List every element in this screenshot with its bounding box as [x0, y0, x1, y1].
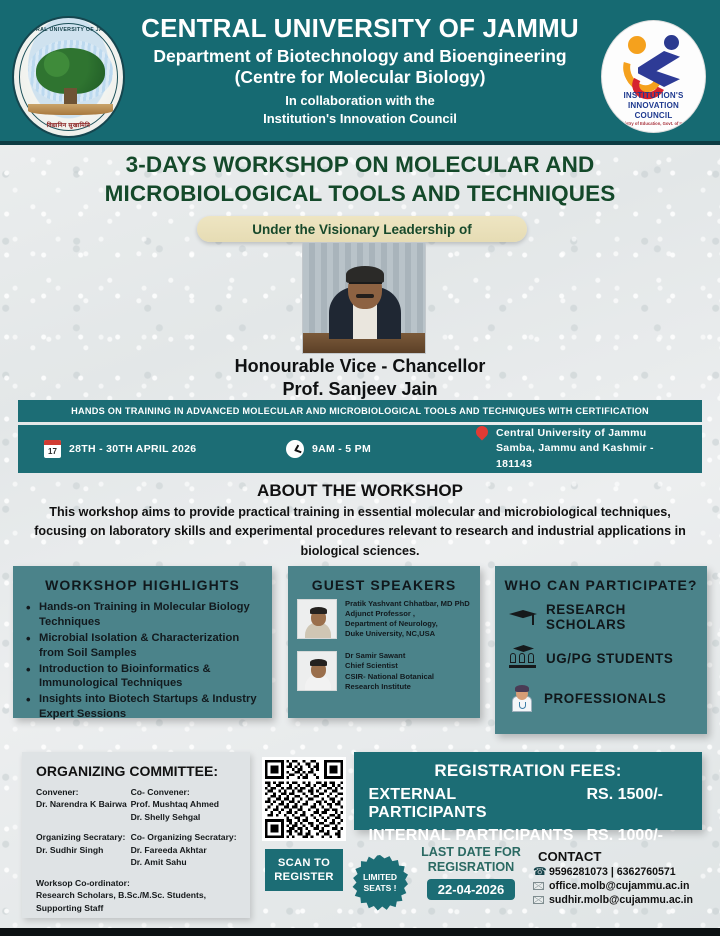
speaker-org-line2: Duke University, NC,USA: [345, 629, 470, 639]
poster-header: CENTRAL UNIVERSITY OF JAMMU विद्यानिन सु…: [0, 0, 720, 141]
header-text-block: CENTRAL UNIVERSITY OF JAMMU Department o…: [125, 14, 595, 128]
about-heading: ABOUT THE WORKSHOP: [0, 481, 720, 501]
list-item: PROFESSIONALS: [509, 684, 707, 712]
workshop-highlights-panel: WORKSHOP HIGHLIGHTS Hands-on Training in…: [13, 566, 272, 718]
mail-icon: [533, 882, 544, 890]
who-can-participate-title: WHO CAN PARTICIPATE?: [495, 566, 707, 593]
location-pin-icon: [476, 426, 488, 444]
iic-logo-icon: INSTITUTION'S INNOVATION COUNCIL Ministr…: [601, 20, 706, 133]
participant-label: RESEARCH SCHOLARS: [546, 602, 707, 632]
scan-label-line2: REGISTER: [274, 870, 334, 884]
poster-canvas: CENTRAL UNIVERSITY OF JAMMU विद्यानिन सु…: [0, 0, 720, 936]
header-divider: [0, 141, 720, 145]
fee-label: EXTERNAL PARTICIPANTS: [360, 786, 575, 822]
member-name: Prof. Mushtaq Ahmed: [131, 798, 250, 810]
speaker-photo: [297, 651, 337, 691]
event-date-item: 17 28TH - 30TH APRIL 2026: [44, 440, 264, 458]
contact-phone-row: ☎ 9596281073 | 6362760571: [533, 866, 713, 878]
badge-line2: SEATS !: [364, 883, 397, 894]
guest-speakers-title: GUEST SPEAKERS: [288, 566, 480, 593]
organizing-committee-panel: ORGANIZING COMMITTEE: Convener: Dr. Nare…: [22, 752, 250, 918]
speaker-org-line1: Department of Neurology,: [345, 619, 470, 629]
participant-label: UG/PG STUDENTS: [546, 651, 673, 666]
guest-speakers-panel: GUEST SPEAKERS Pratik Yashvant Chhatbar,…: [288, 566, 480, 718]
list-item: Insights into Biotech Startups & Industr…: [23, 692, 264, 722]
organizing-committee-title: ORGANIZING COMMITTEE:: [36, 763, 250, 779]
centre-name: (Centre for Molecular Biology): [125, 67, 595, 88]
fee-amount: RS. 1000/-: [587, 827, 697, 845]
committee-col-left: Convener: Dr. Narendra K Bairwa: [36, 786, 131, 823]
hands-on-training-bar: HANDS ON TRAINING IN ADVANCED MOLECULAR …: [18, 400, 702, 422]
role-heading: Convener:: [36, 786, 131, 798]
fee-amount: RS. 1500/-: [587, 786, 697, 804]
contact-email-1: office.molb@cujammu.ac.in: [549, 880, 689, 892]
list-item: Introduction to Bioinformatics & Immunol…: [23, 662, 264, 692]
iic-logo-line2: INNOVATION: [602, 101, 705, 110]
about-body-text: This workshop aims to provide practical …: [30, 503, 690, 561]
committee-col-right: Co- Organizing Secratary: Dr. Fareeda Ak…: [131, 831, 250, 868]
member-name: Dr. Narendra K Bairwa: [36, 798, 131, 810]
contact-email-2: sudhir.molb@cujammu.ac.in: [549, 894, 693, 906]
speaker-org-line1: CSIR- National Botanical: [345, 672, 434, 682]
role-heading: Co- Convener:: [131, 786, 250, 798]
role-heading: Co- Organizing Secratary:: [131, 831, 250, 843]
seal-top-text: CENTRAL UNIVERSITY OF JAMMU: [14, 27, 123, 33]
list-item: Hands-on Training in Molecular Biology T…: [23, 600, 264, 630]
list-item: RESEARCH SCHOLARS: [509, 602, 707, 632]
footer-bar: [0, 928, 720, 936]
iic-logo-line1: INSTITUTION'S: [602, 91, 705, 100]
mail-icon: [533, 896, 544, 904]
committee-col-left: Organizing Secratary: Dr. Sudhir Singh: [36, 831, 131, 868]
seal-bottom-text: विद्यानिन सुखामिनि: [14, 121, 123, 129]
registration-fees-panel: REGISTRATION FEES: EXTERNAL PARTICIPANTS…: [354, 752, 702, 830]
venue-line2: Samba, Jammu and Kashmir -: [496, 441, 654, 456]
contact-block: CONTACT ☎ 9596281073 | 6362760571 office…: [533, 849, 713, 906]
participant-label: PROFESSIONALS: [544, 691, 666, 706]
last-date-value: 22-04-2026: [427, 879, 516, 900]
contact-phone: 9596281073 | 6362760571: [549, 866, 676, 878]
speaker-info: Pratik Yashvant Chhatbar, MD PhD Adjunct…: [345, 599, 470, 639]
workshop-highlights-list: Hands-on Training in Molecular Biology T…: [23, 600, 264, 722]
iic-logo-line3: COUNCIL: [602, 111, 705, 120]
role-heading: Worksop Co-ordinator:: [36, 877, 250, 889]
list-item: Pratik Yashvant Chhatbar, MD PhD Adjunct…: [297, 599, 472, 639]
list-item: Dr Samir Sawant Chief Scientist CSIR- Na…: [297, 651, 472, 691]
member-name: Dr. Sudhir Singh: [36, 844, 131, 856]
member-name: Dr. Shelly Sehgal: [131, 811, 250, 823]
committee-col-right: Co- Convener: Prof. Mushtaq Ahmed Dr. Sh…: [131, 786, 250, 823]
clock-icon: [286, 440, 304, 458]
speaker-info: Dr Samir Sawant Chief Scientist CSIR- Na…: [345, 651, 434, 691]
event-time-item: 9AM - 5 PM: [286, 440, 466, 458]
table-row: EXTERNAL PARTICIPANTS RS. 1500/-: [354, 786, 702, 822]
committee-block: Organizing Secratary: Dr. Sudhir Singh C…: [36, 831, 250, 868]
who-can-participate-panel: WHO CAN PARTICIPATE? RESEARCH SCHOLARS U…: [495, 566, 707, 734]
venue-line1: Central University of Jammu: [496, 426, 654, 441]
vice-chancellor-photo: [302, 242, 426, 354]
iic-line: Institution's Innovation Council: [125, 110, 595, 128]
last-date-line2: REGISRATION: [398, 860, 544, 875]
committee-block: Convener: Dr. Narendra K Bairwa Co- Conv…: [36, 786, 250, 823]
workshop-highlights-title: WORKSHOP HIGHLIGHTS: [13, 566, 272, 593]
iic-logo-subtitle: Ministry of Education, Govt. of India: [602, 121, 705, 126]
graduation-cap-icon: [509, 607, 537, 627]
event-date-text: 28TH - 30TH APRIL 2026: [69, 443, 196, 455]
event-venue-item: Central University of Jammu Samba, Jammu…: [476, 426, 696, 472]
phone-icon: ☎: [533, 867, 544, 878]
list-item: UG/PG STUDENTS: [509, 645, 707, 671]
speaker-role: Adjunct Professor ,: [345, 609, 470, 619]
committee-coordinator-block: Worksop Co-ordinator: Research Scholars,…: [36, 877, 250, 914]
event-time-text: 9AM - 5 PM: [312, 443, 371, 455]
collaboration-line: In collaboration with the: [125, 92, 595, 110]
workshop-title-line2: MICROBIOLOGICAL TOOLS AND TECHNIQUES: [0, 179, 720, 208]
member-name: Dr. Amit Sahu: [131, 856, 250, 868]
fee-label: INTERNAL PARTICIPANTS: [360, 827, 575, 845]
contact-title: CONTACT: [538, 849, 713, 864]
scan-label-line1: SCAN TO: [278, 856, 330, 870]
organizing-committee-grid: Convener: Dr. Narendra K Bairwa Co- Conv…: [36, 786, 250, 914]
university-name: CENTRAL UNIVERSITY OF JAMMU: [125, 14, 595, 43]
vc-name: Prof. Sanjeev Jain: [0, 379, 720, 400]
speaker-name: Pratik Yashvant Chhatbar, MD PhD: [345, 599, 470, 609]
contact-email-row: sudhir.molb@cujammu.ac.in: [533, 894, 713, 906]
venue-line3: 181143: [496, 457, 654, 472]
member-name: Dr. Fareeda Akhtar: [131, 844, 250, 856]
students-icon: [509, 645, 537, 671]
speaker-name: Dr Samir Sawant: [345, 651, 434, 661]
university-seal-icon: CENTRAL UNIVERSITY OF JAMMU विद्यानिन सु…: [12, 16, 125, 138]
workshop-title: 3-DAYS WORKSHOP ON MOLECULAR AND MICROBI…: [0, 150, 720, 209]
registration-qr-code[interactable]: [262, 757, 346, 841]
professional-icon: [509, 684, 535, 712]
registration-fees-title: REGISTRATION FEES:: [354, 761, 702, 781]
leadership-ribbon: Under the Visionary Leadership of: [197, 216, 527, 242]
department-name: Department of Biotechnology and Bioengin…: [125, 46, 595, 67]
badge-line1: LIMITED: [363, 872, 397, 883]
speaker-photo: [297, 599, 337, 639]
last-date-line1: LAST DATE FOR: [398, 845, 544, 860]
last-date-block: LAST DATE FOR REGISRATION 22-04-2026: [398, 845, 544, 900]
event-info-bar: 17 28TH - 30TH APRIL 2026 9AM - 5 PM Cen…: [18, 425, 702, 473]
coordinator-line1: Research Scholars, B.Sc./M.Sc. Students,: [36, 889, 250, 901]
calendar-day-number: 17: [44, 445, 61, 458]
event-venue-text: Central University of Jammu Samba, Jammu…: [496, 426, 654, 472]
calendar-icon: 17: [44, 440, 61, 458]
vc-designation: Honourable Vice - Chancellor: [0, 356, 720, 377]
leadership-ribbon-label: Under the Visionary Leadership of: [252, 222, 472, 237]
scan-to-register-button[interactable]: SCAN TO REGISTER: [265, 849, 343, 891]
contact-email-row: office.molb@cujammu.ac.in: [533, 880, 713, 892]
table-row: INTERNAL PARTICIPANTS RS. 1000/-: [354, 827, 702, 845]
speaker-org-line2: Research Institute: [345, 682, 434, 692]
coordinator-line2: Supporting Staff: [36, 902, 250, 914]
role-heading: Organizing Secratary:: [36, 831, 131, 843]
speaker-role: Chief Scientist: [345, 661, 434, 671]
workshop-title-line1: 3-DAYS WORKSHOP ON MOLECULAR AND: [0, 150, 720, 179]
list-item: Microbial Isolation & Characterization f…: [23, 631, 264, 661]
qr-code-icon: [265, 760, 343, 838]
